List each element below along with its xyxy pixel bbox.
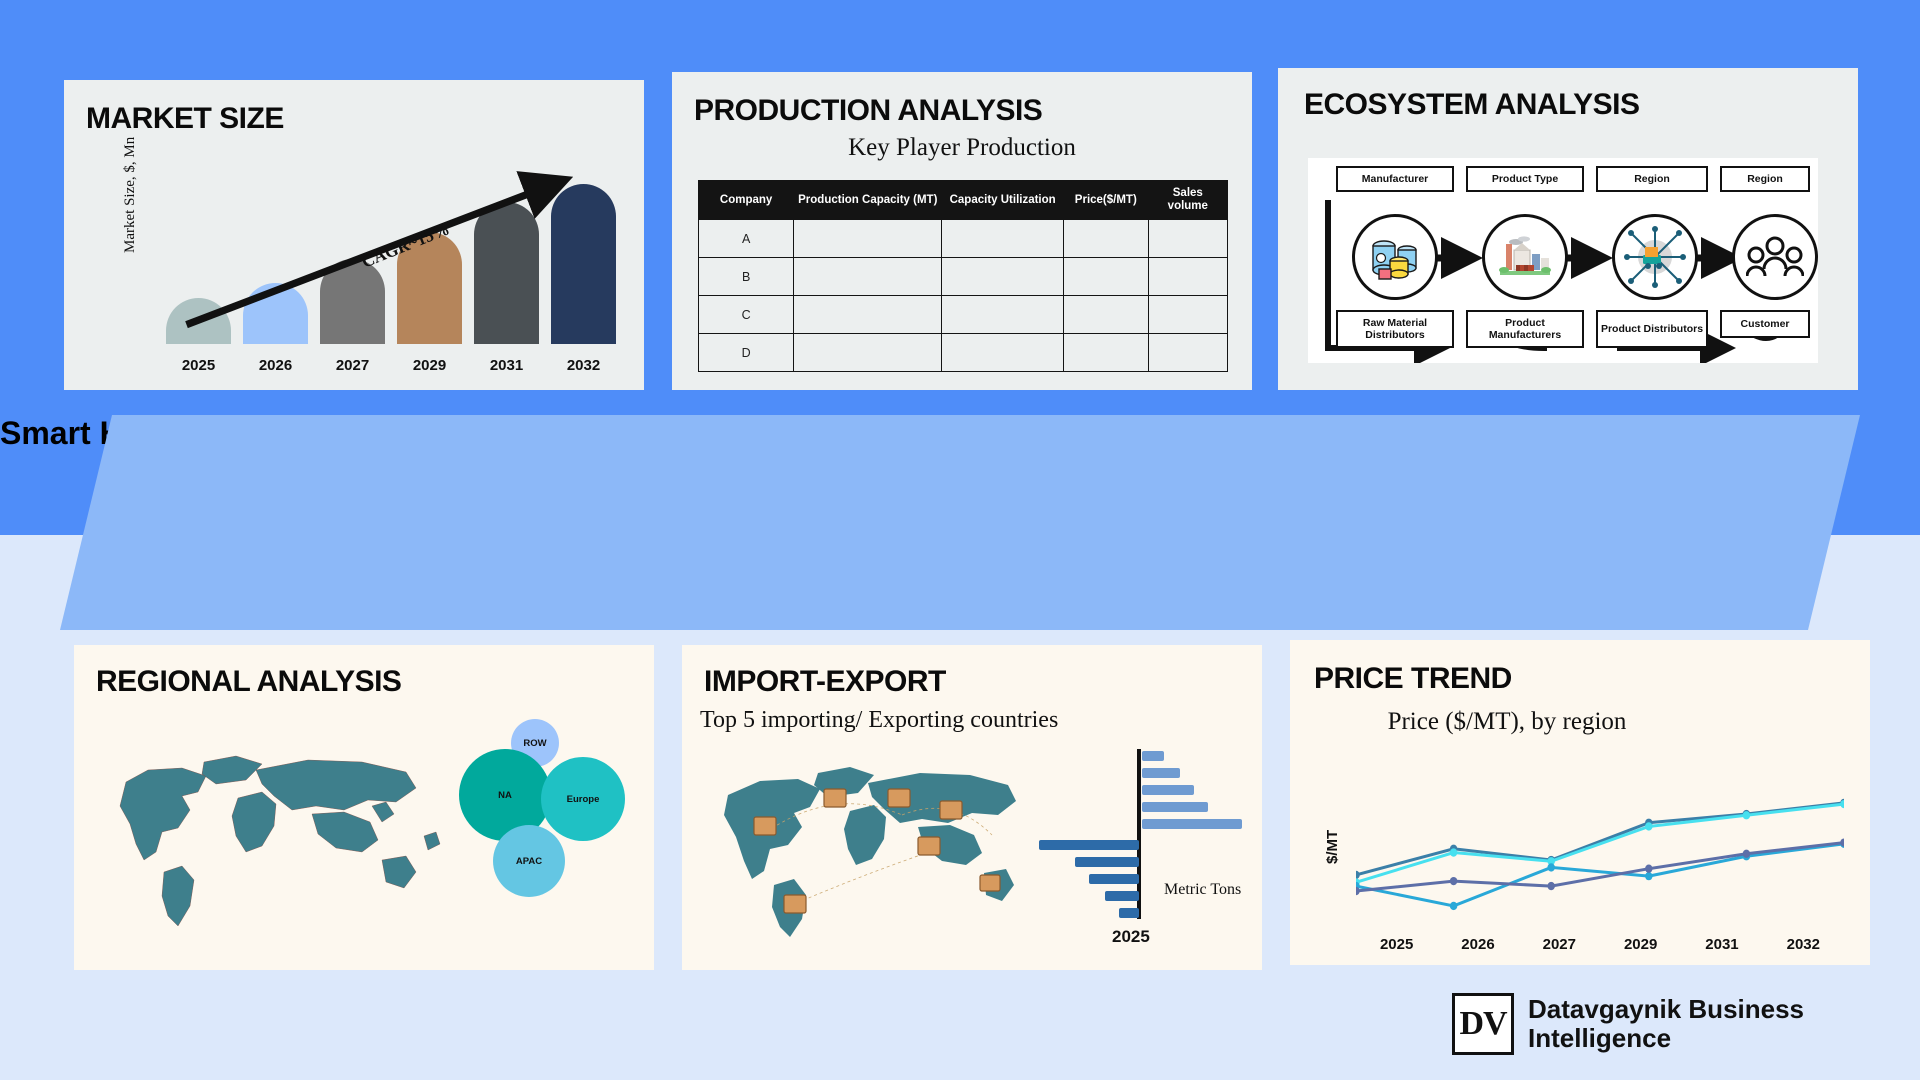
market-size-y-axis-label: Market Size, $, Mn <box>122 137 139 253</box>
card-market-size: MARKET SIZE Market Size, $, Mn CAGR~15% … <box>64 80 644 390</box>
table-row: D <box>699 334 1228 372</box>
import-export-subtitle: Top 5 importing/ Exporting countries <box>700 707 1058 734</box>
table-cell-price <box>1063 296 1148 334</box>
card-production-analysis: PRODUCTION ANALYSIS Key Player Productio… <box>672 72 1252 390</box>
price-point <box>1547 863 1555 871</box>
table-cell-company: B <box>699 258 794 296</box>
table-column-header: Company <box>699 181 794 220</box>
trade-world-map-icon <box>702 755 1042 940</box>
price-trend-x-label: 2025 <box>1356 936 1437 953</box>
region-bubble-europe: Europe <box>541 757 625 841</box>
price-point <box>1450 848 1458 856</box>
table-cell-capacity <box>794 258 942 296</box>
logo-line-1: Datavgaynik Business <box>1528 995 1804 1024</box>
logistics-network-icon <box>1612 214 1698 300</box>
table-cell-utilization <box>942 258 1064 296</box>
ecosystem-diagram: Manufacturer Product Type Region Region <box>1308 158 1818 363</box>
price-trend-x-label: 2029 <box>1600 936 1681 953</box>
card-regional-analysis: REGIONAL ANALYSIS ROWNAEuropeAPAC <box>74 645 654 970</box>
market-size-bar <box>166 298 231 344</box>
market-size-title: MARKET SIZE <box>86 102 284 136</box>
table-cell-price <box>1063 258 1148 296</box>
regional-share-bubbles: ROWNAEuropeAPAC <box>459 715 639 915</box>
price-trend-lines <box>1356 790 1844 925</box>
table-cell-capacity <box>794 220 942 258</box>
table-cell-utilization <box>942 220 1064 258</box>
price-trend-x-label: 2027 <box>1519 936 1600 953</box>
table-cell-volume <box>1148 296 1227 334</box>
logo-wordmark: Datavgaynik Business Intelligence <box>1528 995 1804 1053</box>
market-size-x-axis-labels: 202520262027202920312032 <box>166 357 616 374</box>
table-cell-price <box>1063 220 1148 258</box>
table-cell-utilization <box>942 296 1064 334</box>
import-export-title: IMPORT-EXPORT <box>704 665 946 699</box>
table-column-header: Capacity Utilization <box>942 181 1064 220</box>
price-point <box>1645 822 1653 830</box>
infographic-canvas: MARKET SIZE Market Size, $, Mn CAGR~15% … <box>0 0 1920 1080</box>
price-point <box>1743 811 1751 819</box>
table-header-row: CompanyProduction Capacity (MT)Capacity … <box>699 181 1228 220</box>
price-point <box>1450 877 1458 885</box>
key-player-production-table: CompanyProduction Capacity (MT)Capacity … <box>698 180 1228 372</box>
banner-shape <box>60 415 1860 630</box>
table-cell-capacity <box>794 334 942 372</box>
exporting-bar <box>1119 908 1139 918</box>
price-point <box>1450 902 1458 910</box>
price-point <box>1743 850 1751 858</box>
price-trend-title: PRICE TREND <box>1314 662 1512 696</box>
price-trend-x-axis-labels: 202520262027202920312032 <box>1356 936 1844 953</box>
table-cell-price <box>1063 334 1148 372</box>
importing-bar <box>1142 802 1208 812</box>
metric-tons-label: Metric Tons <box>1164 881 1241 899</box>
exporting-bar <box>1039 840 1139 850</box>
market-size-x-label: 2029 <box>397 357 462 374</box>
market-size-x-label: 2032 <box>551 357 616 374</box>
price-trend-y-axis-label: $/MT <box>1324 830 1341 864</box>
production-title: PRODUCTION ANALYSIS <box>694 94 1042 128</box>
ecosystem-bottom-box-customer: Customer <box>1720 310 1810 338</box>
price-trend-x-label: 2026 <box>1437 936 1518 953</box>
market-size-x-label: 2031 <box>474 357 539 374</box>
price-trend-x-label: 2031 <box>1681 936 1762 953</box>
table-cell-company: C <box>699 296 794 334</box>
world-map-icon <box>86 735 446 945</box>
importing-bar <box>1142 751 1164 761</box>
card-price-trend: PRICE TREND Price ($/MT), by region $/MT… <box>1290 640 1870 965</box>
price-trend-x-label: 2032 <box>1763 936 1844 953</box>
price-trend-chart: $/MT 202520262027202920312032 <box>1314 790 1852 955</box>
table-cell-volume <box>1148 220 1227 258</box>
importing-bar <box>1142 819 1242 829</box>
title-banner: Smart Home Ventilation Systems Market An… <box>0 415 1920 630</box>
table-column-header: Production Capacity (MT) <box>794 181 942 220</box>
table-cell-company: D <box>699 334 794 372</box>
card-import-export: IMPORT-EXPORT Top 5 importing/ Exporting… <box>682 645 1262 970</box>
market-size-x-label: 2027 <box>320 357 385 374</box>
card-ecosystem-analysis: ECOSYSTEM ANALYSIS Manufacturer Product … <box>1278 68 1858 390</box>
regional-title: REGIONAL ANALYSIS <box>96 665 401 699</box>
market-size-x-label: 2026 <box>243 357 308 374</box>
ecosystem-top-box-manufacturer: Manufacturer <box>1336 166 1454 192</box>
import-export-year-label: 2025 <box>1112 927 1150 947</box>
market-size-chart: Market Size, $, Mn CAGR~15% 202520262027… <box>124 158 622 378</box>
ecosystem-title: ECOSYSTEM ANALYSIS <box>1304 88 1640 122</box>
production-subtitle: Key Player Production <box>672 134 1252 162</box>
ecosystem-top-box-region-2: Region <box>1720 166 1810 192</box>
ecosystem-top-box-region-1: Region <box>1596 166 1708 192</box>
importing-bar <box>1142 768 1180 778</box>
market-size-bar <box>551 184 616 344</box>
table-cell-capacity <box>794 296 942 334</box>
table-column-header: Price($/MT) <box>1063 181 1148 220</box>
table-cell-utilization <box>942 334 1064 372</box>
table-cell-volume <box>1148 334 1227 372</box>
market-size-x-label: 2025 <box>166 357 231 374</box>
import-export-tornado-chart: Metric Tons 2025 <box>1052 745 1247 945</box>
importing-bar <box>1142 785 1194 795</box>
exporting-bar <box>1089 874 1139 884</box>
customers-group-icon <box>1732 214 1818 300</box>
market-size-bar <box>243 283 308 344</box>
region-bubble-apac: APAC <box>493 825 565 897</box>
market-size-bar <box>474 202 539 344</box>
price-point <box>1547 882 1555 890</box>
table-row: A <box>699 220 1228 258</box>
table-cell-volume <box>1148 258 1227 296</box>
table-row: C <box>699 296 1228 334</box>
table-cell-company: A <box>699 220 794 258</box>
ecosystem-top-box-product-type: Product Type <box>1466 166 1584 192</box>
company-logo: DV Datavgaynik Business Intelligence <box>1452 988 1862 1060</box>
exporting-bar <box>1075 857 1139 867</box>
price-line-series-4 <box>1356 843 1844 891</box>
price-line-series-3 <box>1356 844 1844 906</box>
exporting-bar <box>1105 891 1139 901</box>
ecosystem-bottom-box-raw-material-distributors: Raw Material Distributors <box>1336 310 1454 348</box>
table-row: B <box>699 258 1228 296</box>
price-trend-subtitle: Price ($/MT), by region <box>1362 706 1652 737</box>
price-point <box>1645 872 1653 880</box>
market-size-bar <box>320 259 385 344</box>
ecosystem-bottom-box-product-manufacturers: Product Manufacturers <box>1466 310 1584 348</box>
table-column-header: Sales volume <box>1148 181 1227 220</box>
barrels-icon <box>1352 214 1438 300</box>
logo-monogram: DV <box>1452 993 1514 1055</box>
factory-icon <box>1482 214 1568 300</box>
ecosystem-bottom-box-product-distributors: Product Distributors <box>1596 310 1708 348</box>
price-point <box>1356 871 1360 879</box>
price-point <box>1645 865 1653 873</box>
logo-line-2: Intelligence <box>1528 1024 1804 1053</box>
